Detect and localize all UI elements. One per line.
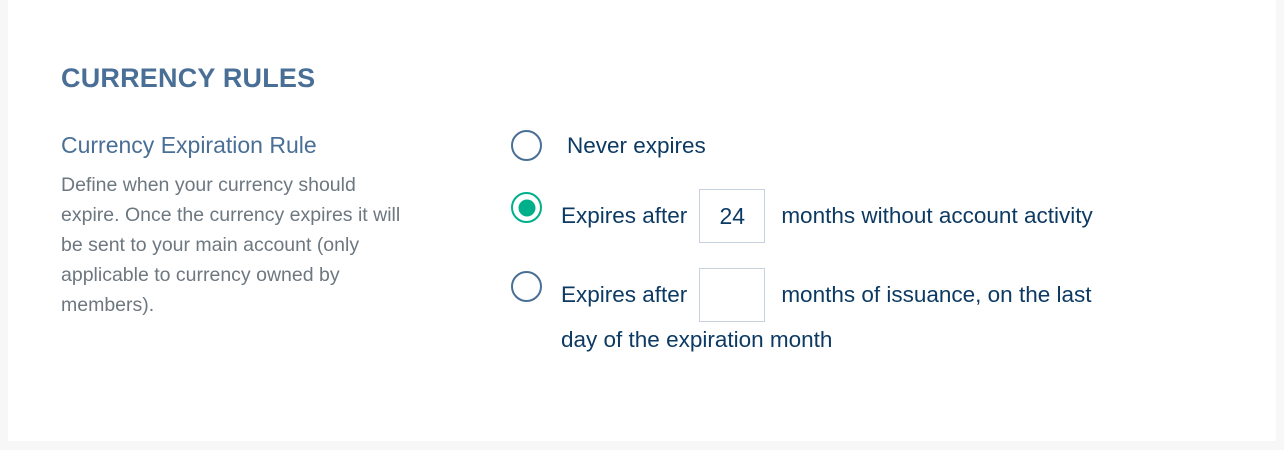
option-text-lead: Never expires xyxy=(567,127,706,164)
option-label-expires-after-issuance: Expires after months of issuance, on the… xyxy=(561,268,1231,360)
radio-option-expires-after-inactivity[interactable]: Expires after months without account act… xyxy=(511,189,1231,243)
months-issuance-input[interactable] xyxy=(699,268,765,322)
radio-icon-never-expires[interactable] xyxy=(511,130,542,161)
currency-rules-card: CURRENCY RULES Currency Expiration Rule … xyxy=(8,0,1276,441)
radio-option-never-expires[interactable]: Never expires xyxy=(511,127,1231,164)
option-text-trail: months without account activity xyxy=(781,196,1092,236)
option-label-expires-after-inactivity: Expires after months without account act… xyxy=(561,189,1093,243)
field-label-currency-expiration-rule: Currency Expiration Rule xyxy=(61,129,426,161)
radio-icon-expires-after-inactivity[interactable] xyxy=(511,192,542,223)
months-inactivity-input[interactable] xyxy=(699,189,765,243)
option-text-lead: Expires after xyxy=(561,196,687,236)
field-description-column: Currency Expiration Rule Define when you… xyxy=(61,129,426,320)
option-text-lead: Expires after xyxy=(561,275,687,315)
expiration-rule-radio-group: Never expires Expires after months witho… xyxy=(511,127,1231,360)
option-text-line2: day of the expiration month xyxy=(561,320,1231,360)
page-title: CURRENCY RULES xyxy=(61,60,315,96)
field-help-text: Define when your currency should expire.… xyxy=(61,170,413,320)
option-text-trail: months of issuance, on the last xyxy=(781,275,1091,315)
option-label-never-expires: Never expires xyxy=(561,127,718,164)
radio-icon-expires-after-issuance[interactable] xyxy=(511,271,542,302)
radio-option-expires-after-issuance[interactable]: Expires after months of issuance, on the… xyxy=(511,268,1231,360)
